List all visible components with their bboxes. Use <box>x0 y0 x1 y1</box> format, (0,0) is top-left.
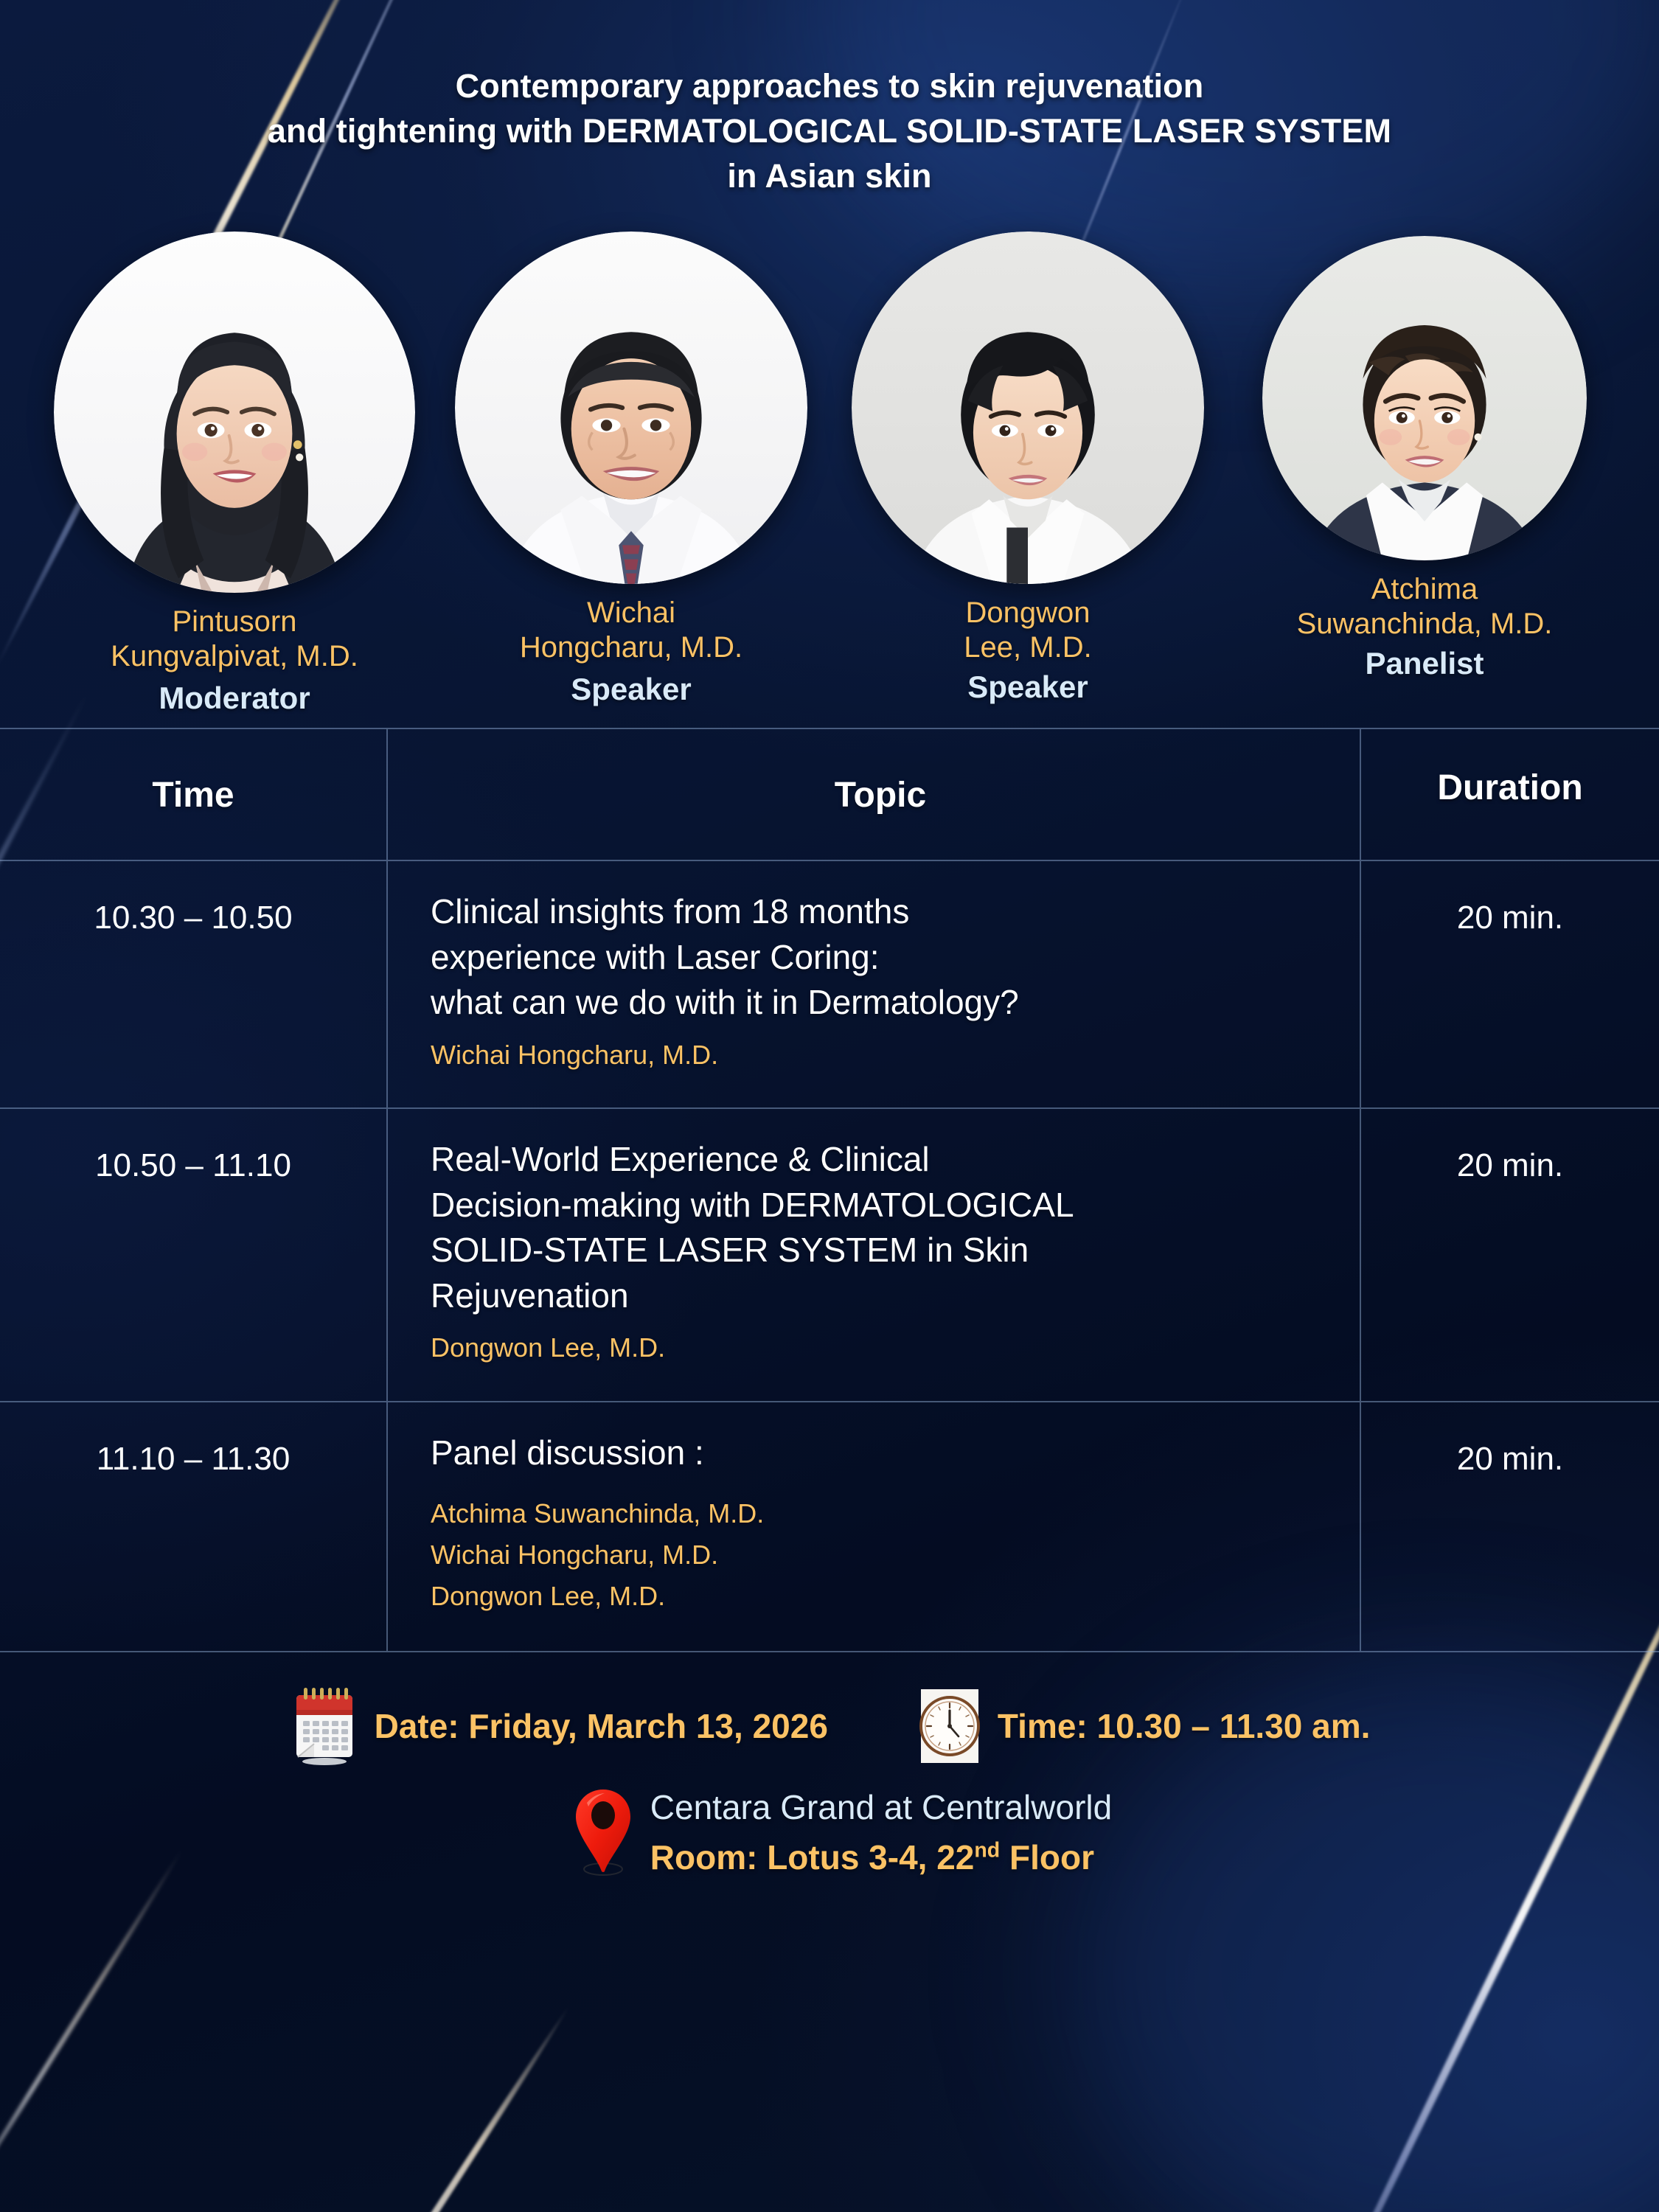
row-duration: 20 min. <box>1360 1402 1659 1652</box>
speaker-name-line-1: Dongwon <box>965 597 1090 629</box>
topic-speaker: Dongwon Lee, M.D. <box>431 1576 1330 1617</box>
topic-speaker-list: Dongwon Lee, M.D. <box>431 1329 1330 1366</box>
light-streak-decoration <box>261 2005 571 2212</box>
page-title: Contemporary approaches to skin rejuvena… <box>0 0 1659 199</box>
topic-line: Decision-making with DERMATOLOGICAL <box>431 1183 1330 1228</box>
speaker-card-wichai: Wichai Hongcharu, M.D. Speaker <box>447 232 815 707</box>
speaker-card-atchima: Atchima Suwanchinda, M.D. Panelist <box>1240 232 1609 681</box>
topic-speaker: Atchima Suwanchinda, M.D. <box>431 1493 1330 1534</box>
row-topic: Real-World Experience & Clinical Decisio… <box>387 1108 1360 1402</box>
topic-line: Rejuvenation <box>431 1273 1330 1319</box>
row-duration: 20 min. <box>1360 860 1659 1108</box>
agenda-table: Time Topic Duration 10.30 – 10.50 Clinic… <box>0 728 1659 1652</box>
column-header-topic: Topic <box>387 728 1360 860</box>
topic-speaker-list: Atchima Suwanchinda, M.D. Wichai Hongcha… <box>431 1493 1330 1616</box>
row-topic: Panel discussion : Atchima Suwanchinda, … <box>387 1402 1360 1652</box>
topic-speaker-list: Wichai Hongcharu, M.D. <box>431 1036 1330 1074</box>
topic-line: Real-World Experience & Clinical <box>431 1137 1330 1183</box>
speaker-role: Moderator <box>50 681 419 716</box>
footer-time-item: Time: 10.30 – 11.30 am. <box>917 1688 1371 1764</box>
speaker-card-dongwon: Dongwon Lee, M.D. Speaker <box>844 232 1212 705</box>
speaker-name-line-2: Hongcharu, M.D. <box>520 631 742 664</box>
speaker-name-line-2: Suwanchinda, M.D. <box>1297 608 1553 640</box>
topic-line: Clinical insights from 18 months <box>431 889 1330 935</box>
title-line-1: Contemporary approaches to skin rejuvena… <box>52 63 1607 108</box>
row-time: 10.30 – 10.50 <box>0 860 387 1108</box>
avatar <box>54 232 415 593</box>
speaker-name: Atchima Suwanchinda, M.D. <box>1240 572 1609 641</box>
topic-line: Panel discussion : <box>431 1430 1330 1476</box>
speaker-name-line-2: Lee, M.D. <box>964 631 1091 664</box>
venue-text-block: Centara Grand at Centralworld Room: Lotu… <box>650 1787 1112 1877</box>
footer-time-label: Time: 10.30 – 11.30 am. <box>998 1706 1371 1746</box>
footer-venue-row: Centara Grand at Centralworld Room: Lotu… <box>0 1787 1659 1879</box>
portrait-atchima-suwanchinda <box>1262 236 1587 560</box>
column-header-duration: Duration <box>1360 728 1659 860</box>
calendar-icon <box>289 1685 360 1767</box>
portrait-pintusorn-kungvalpivat <box>54 232 415 593</box>
footer-date-label: Date: Friday, March 13, 2026 <box>375 1706 828 1746</box>
table-header-row: Time Topic Duration <box>0 728 1659 860</box>
avatar <box>455 232 807 584</box>
venue-room-pre: Room: Lotus 3-4, 22 <box>650 1838 975 1877</box>
speaker-list: Pintusorn Kungvalpivat, M.D. Moderator <box>0 232 1659 716</box>
portrait-dongwon-lee <box>852 232 1204 584</box>
topic-line: what can we do with it in Dermatology? <box>431 980 1330 1026</box>
footer: Date: Friday, March 13, 2026 <box>0 1652 1659 1879</box>
avatar <box>1262 236 1587 560</box>
table-row: 11.10 – 11.30 Panel discussion : Atchima… <box>0 1402 1659 1652</box>
speaker-name-line-1: Wichai <box>587 597 675 629</box>
topic-speaker: Wichai Hongcharu, M.D. <box>431 1534 1330 1576</box>
poster-canvas: Contemporary approaches to skin rejuvena… <box>0 0 1659 2212</box>
topic-speaker: Wichai Hongcharu, M.D. <box>431 1036 1330 1074</box>
clock-icon <box>917 1688 983 1764</box>
venue-room-post: Floor <box>1000 1838 1094 1877</box>
footer-date-time-row: Date: Friday, March 13, 2026 <box>0 1685 1659 1767</box>
speaker-name: Dongwon Lee, M.D. <box>844 596 1212 665</box>
topic-line: SOLID-STATE LASER SYSTEM in Skin <box>431 1228 1330 1273</box>
footer-date-item: Date: Friday, March 13, 2026 <box>289 1685 828 1767</box>
speaker-role: Speaker <box>844 669 1212 705</box>
portrait-wichai-hongcharu <box>455 232 807 584</box>
column-header-time: Time <box>0 728 387 860</box>
speaker-role: Panelist <box>1240 646 1609 681</box>
row-time: 11.10 – 11.30 <box>0 1402 387 1652</box>
row-time: 10.50 – 11.10 <box>0 1108 387 1402</box>
speaker-name-line-1: Pintusorn <box>173 605 297 638</box>
table-row: 10.50 – 11.10 Real-World Experience & Cl… <box>0 1108 1659 1402</box>
topic-line: experience with Laser Coring: <box>431 935 1330 981</box>
row-topic: Clinical insights from 18 months experie… <box>387 860 1360 1108</box>
speaker-name-line-2: Kungvalpivat, M.D. <box>111 640 358 672</box>
speaker-name: Pintusorn Kungvalpivat, M.D. <box>50 605 419 674</box>
map-pin-icon <box>569 1787 637 1879</box>
speaker-name: Wichai Hongcharu, M.D. <box>447 596 815 665</box>
speaker-role: Speaker <box>447 672 815 707</box>
venue-room-ordinal: nd <box>974 1838 1000 1862</box>
speaker-card-moderator: Pintusorn Kungvalpivat, M.D. Moderator <box>50 232 419 716</box>
row-duration: 20 min. <box>1360 1108 1659 1402</box>
title-line-2: and tightening with DERMATOLOGICAL SOLID… <box>52 108 1607 153</box>
table-row: 10.30 – 10.50 Clinical insights from 18 … <box>0 860 1659 1108</box>
avatar <box>852 232 1204 584</box>
light-streak-decoration <box>0 1847 185 2212</box>
topic-speaker: Dongwon Lee, M.D. <box>431 1329 1330 1366</box>
venue-room: Room: Lotus 3-4, 22nd Floor <box>650 1837 1112 1878</box>
title-line-3: in Asian skin <box>52 153 1607 198</box>
speaker-name-line-1: Atchima <box>1371 573 1478 605</box>
venue-name: Centara Grand at Centralworld <box>650 1787 1112 1828</box>
